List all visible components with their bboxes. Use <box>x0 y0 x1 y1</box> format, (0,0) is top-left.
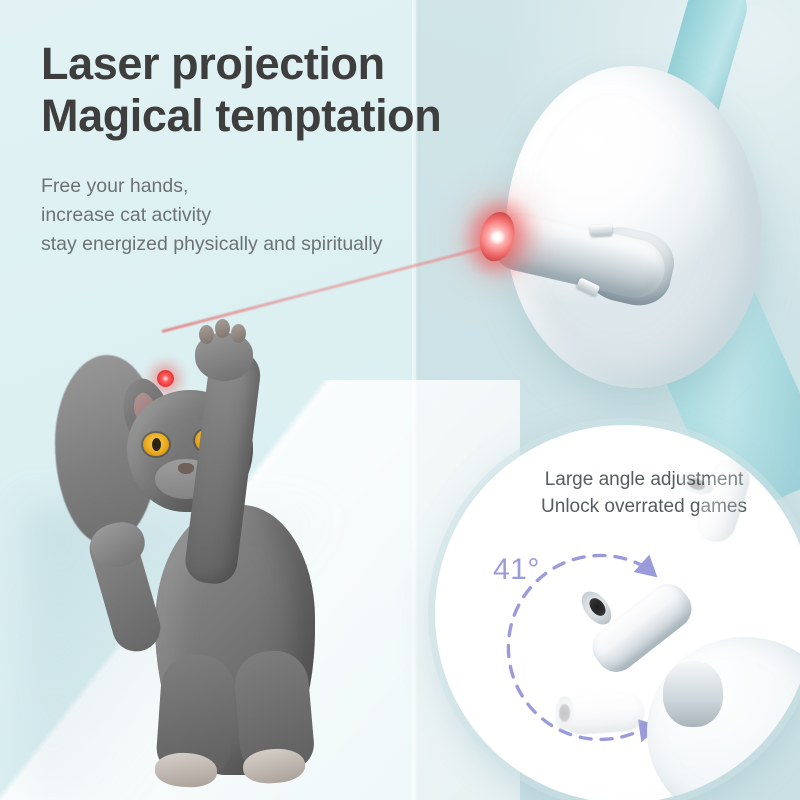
cat-toe <box>199 325 214 344</box>
product-banner: Laser projection Magical temptation Free… <box>0 0 800 800</box>
nozzle-aperture <box>559 704 570 722</box>
cat-toe <box>215 319 230 338</box>
cat-illustration <box>55 355 385 800</box>
cat-nose <box>178 463 194 474</box>
cat-pupil-left <box>152 438 161 451</box>
emitter-clip-top <box>590 224 613 236</box>
page-title: Laser projection Magical temptation <box>41 38 441 142</box>
inset-device-hinge <box>663 661 723 727</box>
arrow-head-icon <box>634 552 664 581</box>
page-subtitle: Free your hands, increase cat activity s… <box>41 172 382 259</box>
angle-adjustment-callout: Large angle adjustment Unlock overrated … <box>435 425 800 800</box>
laser-projector-device <box>470 0 800 460</box>
cat-toe <box>231 324 246 343</box>
